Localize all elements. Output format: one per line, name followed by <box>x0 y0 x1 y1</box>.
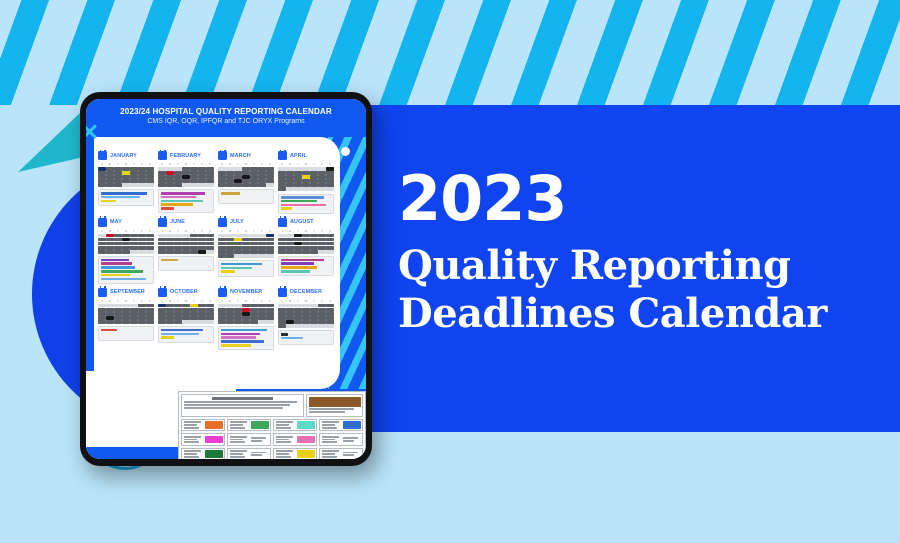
deadline-bar[interactable] <box>281 196 325 199</box>
day-cell[interactable] <box>146 312 154 316</box>
day-cell[interactable] <box>130 175 138 179</box>
day-cell[interactable] <box>158 171 166 175</box>
deadline-bar[interactable] <box>161 336 174 339</box>
day-cell[interactable] <box>302 242 310 246</box>
day-cell[interactable] <box>218 316 226 320</box>
day-cell[interactable] <box>318 234 326 238</box>
day-cell[interactable] <box>174 308 182 312</box>
day-cell[interactable] <box>250 312 258 316</box>
day-cell[interactable] <box>206 179 214 183</box>
day-cell[interactable] <box>318 320 326 324</box>
deadline-bar[interactable] <box>221 344 252 347</box>
deadline-bar[interactable] <box>221 270 235 273</box>
day-cell[interactable] <box>258 167 266 171</box>
deadline-bar[interactable] <box>101 259 130 262</box>
day-cell[interactable] <box>198 242 206 246</box>
day-cell[interactable] <box>146 246 154 250</box>
day-cell[interactable] <box>258 316 266 320</box>
day-cell[interactable] <box>310 242 318 246</box>
day-cell[interactable] <box>166 312 174 316</box>
day-cell[interactable] <box>114 234 122 238</box>
day-cell[interactable] <box>250 246 258 250</box>
day-cell[interactable] <box>122 171 130 175</box>
day-cell[interactable] <box>294 308 302 312</box>
day-cell[interactable] <box>326 238 334 242</box>
deadline-bar[interactable] <box>221 192 240 195</box>
deadline-bar[interactable] <box>161 192 206 195</box>
day-cell[interactable] <box>310 175 318 179</box>
day-cell[interactable] <box>206 167 214 171</box>
deadline-bar[interactable] <box>281 207 292 210</box>
day-cell[interactable] <box>250 304 258 308</box>
day-cell[interactable] <box>218 238 226 242</box>
day-cell[interactable] <box>146 175 154 179</box>
day-cell[interactable] <box>122 308 130 312</box>
day-cell[interactable] <box>234 238 242 242</box>
day-cell[interactable] <box>234 320 242 324</box>
day-cell[interactable] <box>218 183 226 187</box>
day-cell[interactable] <box>166 183 174 187</box>
legend-entry[interactable] <box>273 448 317 459</box>
day-cell[interactable] <box>98 316 106 320</box>
day-cell[interactable] <box>98 171 106 175</box>
day-cell[interactable] <box>106 320 114 324</box>
day-cell[interactable] <box>98 320 106 324</box>
day-cell[interactable] <box>106 183 114 187</box>
legend-entry[interactable] <box>319 433 363 445</box>
legend-entry[interactable] <box>273 433 317 445</box>
deadline-bar[interactable] <box>101 274 131 277</box>
day-cell[interactable] <box>234 316 242 320</box>
day-cell[interactable] <box>182 308 190 312</box>
day-cell[interactable] <box>138 179 146 183</box>
day-cell[interactable] <box>286 312 294 316</box>
day-cell[interactable] <box>138 304 146 308</box>
day-cell[interactable] <box>158 238 166 242</box>
day-cell[interactable] <box>182 250 190 254</box>
day-cell[interactable] <box>326 234 334 238</box>
day-cell[interactable] <box>302 175 310 179</box>
day-cell[interactable] <box>182 312 190 316</box>
day-cell[interactable] <box>302 316 310 320</box>
day-cell[interactable] <box>242 179 250 183</box>
deadline-bar[interactable] <box>101 262 133 265</box>
day-cell[interactable] <box>190 304 198 308</box>
day-cell[interactable] <box>138 234 146 238</box>
day-cell[interactable] <box>190 316 198 320</box>
day-cell[interactable] <box>130 308 138 312</box>
day-cell[interactable] <box>190 175 198 179</box>
day-cell[interactable] <box>98 238 106 242</box>
deadline-bar[interactable] <box>101 192 148 195</box>
day-cell[interactable] <box>234 179 242 183</box>
day-cell[interactable] <box>278 242 286 246</box>
day-cell[interactable] <box>182 316 190 320</box>
deadline-bar[interactable] <box>161 329 204 332</box>
day-cell[interactable] <box>146 242 154 246</box>
day-cell[interactable] <box>98 250 106 254</box>
day-cell[interactable] <box>294 175 302 179</box>
day-cell[interactable] <box>190 171 198 175</box>
day-cell[interactable] <box>138 238 146 242</box>
day-cell[interactable] <box>174 320 182 324</box>
day-cell[interactable] <box>310 246 318 250</box>
deadline-bar[interactable] <box>281 259 325 262</box>
day-cell[interactable] <box>130 171 138 175</box>
day-cell[interactable] <box>198 312 206 316</box>
day-cell[interactable] <box>286 242 294 246</box>
day-cell[interactable] <box>242 183 250 187</box>
day-cell[interactable] <box>158 250 166 254</box>
day-cell[interactable] <box>326 167 334 171</box>
day-cell[interactable] <box>174 183 182 187</box>
day-cell[interactable] <box>278 324 286 328</box>
day-cell[interactable] <box>166 179 174 183</box>
day-cell[interactable] <box>146 320 154 324</box>
day-cell[interactable] <box>106 246 114 250</box>
day-cell[interactable] <box>266 175 274 179</box>
day-cell[interactable] <box>198 308 206 312</box>
day-cell[interactable] <box>138 246 146 250</box>
day-cell[interactable] <box>158 175 166 179</box>
deadline-bar[interactable] <box>281 262 315 265</box>
day-cell[interactable] <box>174 246 182 250</box>
day-cell[interactable] <box>250 175 258 179</box>
day-cell[interactable] <box>286 171 294 175</box>
day-cell[interactable] <box>138 308 146 312</box>
day-cell[interactable] <box>278 187 286 191</box>
day-cell[interactable] <box>242 308 250 312</box>
day-cell[interactable] <box>130 246 138 250</box>
day-cell[interactable] <box>278 175 286 179</box>
day-cell[interactable] <box>258 238 266 242</box>
day-cell[interactable] <box>258 304 266 308</box>
day-cell[interactable] <box>98 246 106 250</box>
legend-entry[interactable] <box>227 448 271 459</box>
day-cell[interactable] <box>318 246 326 250</box>
day-cell[interactable] <box>242 250 250 254</box>
day-cell[interactable] <box>302 171 310 175</box>
day-cell[interactable] <box>226 320 234 324</box>
day-cell[interactable] <box>190 179 198 183</box>
day-cell[interactable] <box>166 242 174 246</box>
day-cell[interactable] <box>98 179 106 183</box>
day-cell[interactable] <box>182 175 190 179</box>
day-cell[interactable] <box>130 238 138 242</box>
day-cell[interactable] <box>326 320 334 324</box>
day-cell[interactable] <box>226 238 234 242</box>
day-cell[interactable] <box>326 171 334 175</box>
day-cell[interactable] <box>190 238 198 242</box>
day-cell[interactable] <box>138 175 146 179</box>
day-cell[interactable] <box>106 234 114 238</box>
day-cell[interactable] <box>266 171 274 175</box>
day-cell[interactable] <box>286 238 294 242</box>
day-cell[interactable] <box>286 183 294 187</box>
day-cell[interactable] <box>250 167 258 171</box>
day-cell[interactable] <box>146 179 154 183</box>
day-cell[interactable] <box>98 312 106 316</box>
day-cell[interactable] <box>218 246 226 250</box>
day-cell[interactable] <box>318 316 326 320</box>
legend-entry[interactable] <box>227 419 271 431</box>
day-cell[interactable] <box>106 316 114 320</box>
day-cell[interactable] <box>226 179 234 183</box>
day-cell[interactable] <box>318 242 326 246</box>
day-cell[interactable] <box>130 242 138 246</box>
day-cell[interactable] <box>190 234 198 238</box>
day-cell[interactable] <box>226 254 234 258</box>
day-cell[interactable] <box>158 246 166 250</box>
day-cell[interactable] <box>278 308 286 312</box>
day-cell[interactable] <box>302 250 310 254</box>
day-cell[interactable] <box>318 171 326 175</box>
day-cell[interactable] <box>174 304 182 308</box>
day-cell[interactable] <box>138 242 146 246</box>
day-cell[interactable] <box>182 167 190 171</box>
day-cell[interactable] <box>266 308 274 312</box>
day-cell[interactable] <box>226 308 234 312</box>
day-cell[interactable] <box>258 312 266 316</box>
day-cell[interactable] <box>114 246 122 250</box>
day-cell[interactable] <box>226 242 234 246</box>
deadline-bar[interactable] <box>281 333 288 336</box>
day-cell[interactable] <box>158 304 166 308</box>
day-cell[interactable] <box>190 246 198 250</box>
deadline-bar[interactable] <box>281 266 318 269</box>
day-cell[interactable] <box>266 238 274 242</box>
day-cell[interactable] <box>250 238 258 242</box>
day-cell[interactable] <box>206 238 214 242</box>
day-cell[interactable] <box>266 246 274 250</box>
day-cell[interactable] <box>278 238 286 242</box>
day-cell[interactable] <box>318 175 326 179</box>
day-cell[interactable] <box>258 250 266 254</box>
day-cell[interactable] <box>250 320 258 324</box>
day-cell[interactable] <box>326 179 334 183</box>
day-cell[interactable] <box>206 242 214 246</box>
day-cell[interactable] <box>266 316 274 320</box>
day-cell[interactable] <box>242 171 250 175</box>
day-cell[interactable] <box>130 316 138 320</box>
day-cell[interactable] <box>114 308 122 312</box>
day-cell[interactable] <box>258 242 266 246</box>
day-cell[interactable] <box>310 320 318 324</box>
legend-entry[interactable] <box>181 419 225 431</box>
day-cell[interactable] <box>294 246 302 250</box>
day-cell[interactable] <box>302 320 310 324</box>
legend-entry[interactable] <box>227 433 271 445</box>
day-cell[interactable] <box>286 250 294 254</box>
day-cell[interactable] <box>310 250 318 254</box>
day-cell[interactable] <box>190 167 198 171</box>
day-cell[interactable] <box>302 238 310 242</box>
day-cell[interactable] <box>234 171 242 175</box>
day-cell[interactable] <box>326 312 334 316</box>
day-cell[interactable] <box>166 238 174 242</box>
day-cell[interactable] <box>158 316 166 320</box>
day-cell[interactable] <box>206 308 214 312</box>
day-cell[interactable] <box>138 167 146 171</box>
day-cell[interactable] <box>218 171 226 175</box>
day-cell[interactable] <box>174 242 182 246</box>
day-cell[interactable] <box>294 250 302 254</box>
close-icon[interactable]: ✕ <box>86 121 102 143</box>
deadline-bar[interactable] <box>281 270 311 273</box>
day-cell[interactable] <box>122 250 130 254</box>
day-cell[interactable] <box>278 316 286 320</box>
day-cell[interactable] <box>146 171 154 175</box>
day-cell[interactable] <box>106 250 114 254</box>
day-cell[interactable] <box>166 246 174 250</box>
day-cell[interactable] <box>234 250 242 254</box>
legend-entry[interactable] <box>273 419 317 431</box>
day-cell[interactable] <box>294 238 302 242</box>
day-cell[interactable] <box>114 183 122 187</box>
deadline-bar[interactable] <box>161 203 194 206</box>
day-cell[interactable] <box>218 312 226 316</box>
day-cell[interactable] <box>318 312 326 316</box>
day-cell[interactable] <box>182 238 190 242</box>
legend-entry[interactable] <box>319 448 363 459</box>
day-cell[interactable] <box>106 238 114 242</box>
day-cell[interactable] <box>206 312 214 316</box>
day-cell[interactable] <box>122 238 130 242</box>
day-cell[interactable] <box>218 308 226 312</box>
day-cell[interactable] <box>146 167 154 171</box>
day-cell[interactable] <box>106 242 114 246</box>
day-cell[interactable] <box>206 316 214 320</box>
day-cell[interactable] <box>114 171 122 175</box>
day-cell[interactable] <box>106 171 114 175</box>
day-cell[interactable] <box>122 320 130 324</box>
day-cell[interactable] <box>146 304 154 308</box>
day-cell[interactable] <box>190 250 198 254</box>
day-cell[interactable] <box>106 167 114 171</box>
day-cell[interactable] <box>218 175 226 179</box>
day-cell[interactable] <box>266 312 274 316</box>
deadline-bar[interactable] <box>101 270 144 273</box>
day-cell[interactable] <box>226 175 234 179</box>
day-cell[interactable] <box>206 304 214 308</box>
day-cell[interactable] <box>286 175 294 179</box>
day-cell[interactable] <box>114 179 122 183</box>
day-cell[interactable] <box>310 308 318 312</box>
day-cell[interactable] <box>166 171 174 175</box>
day-cell[interactable] <box>234 246 242 250</box>
day-cell[interactable] <box>182 246 190 250</box>
deadline-bar[interactable] <box>221 333 261 336</box>
day-cell[interactable] <box>114 312 122 316</box>
day-cell[interactable] <box>310 238 318 242</box>
day-cell[interactable] <box>166 250 174 254</box>
day-cell[interactable] <box>250 183 258 187</box>
day-cell[interactable] <box>122 316 130 320</box>
day-cell[interactable] <box>258 246 266 250</box>
day-cell[interactable] <box>138 320 146 324</box>
day-cell[interactable] <box>114 242 122 246</box>
day-cell[interactable] <box>114 238 122 242</box>
day-cell[interactable] <box>302 308 310 312</box>
day-cell[interactable] <box>258 171 266 175</box>
day-cell[interactable] <box>98 183 106 187</box>
day-cell[interactable] <box>190 308 198 312</box>
day-cell[interactable] <box>182 242 190 246</box>
day-cell[interactable] <box>286 316 294 320</box>
day-cell[interactable] <box>226 183 234 187</box>
day-cell[interactable] <box>182 304 190 308</box>
day-cell[interactable] <box>250 171 258 175</box>
day-cell[interactable] <box>106 175 114 179</box>
day-cell[interactable] <box>278 171 286 175</box>
day-cell[interactable] <box>206 171 214 175</box>
day-cell[interactable] <box>318 308 326 312</box>
day-cell[interactable] <box>190 312 198 316</box>
day-cell[interactable] <box>278 246 286 250</box>
day-cell[interactable] <box>226 171 234 175</box>
day-cell[interactable] <box>158 320 166 324</box>
legend-entry[interactable] <box>181 448 225 459</box>
day-cell[interactable] <box>242 238 250 242</box>
day-cell[interactable] <box>242 167 250 171</box>
day-cell[interactable] <box>294 242 302 246</box>
deadline-bar[interactable] <box>161 259 178 262</box>
day-cell[interactable] <box>114 175 122 179</box>
day-cell[interactable] <box>242 320 250 324</box>
legend-entry[interactable] <box>181 433 225 445</box>
day-cell[interactable] <box>218 254 226 258</box>
day-cell[interactable] <box>138 171 146 175</box>
day-cell[interactable] <box>250 308 258 312</box>
day-cell[interactable] <box>130 320 138 324</box>
day-cell[interactable] <box>258 179 266 183</box>
day-cell[interactable] <box>198 238 206 242</box>
day-cell[interactable] <box>206 234 214 238</box>
day-cell[interactable] <box>302 234 310 238</box>
day-cell[interactable] <box>234 312 242 316</box>
day-cell[interactable] <box>278 312 286 316</box>
day-cell[interactable] <box>326 242 334 246</box>
day-cell[interactable] <box>106 179 114 183</box>
day-cell[interactable] <box>122 242 130 246</box>
day-cell[interactable] <box>130 167 138 171</box>
day-cell[interactable] <box>278 183 286 187</box>
day-cell[interactable] <box>198 246 206 250</box>
day-cell[interactable] <box>326 175 334 179</box>
day-cell[interactable] <box>310 312 318 316</box>
day-cell[interactable] <box>250 242 258 246</box>
day-cell[interactable] <box>302 179 310 183</box>
day-cell[interactable] <box>138 316 146 320</box>
day-cell[interactable] <box>174 171 182 175</box>
deadline-bar[interactable] <box>101 266 136 269</box>
day-cell[interactable] <box>218 242 226 246</box>
day-cell[interactable] <box>310 234 318 238</box>
day-cell[interactable] <box>294 183 302 187</box>
day-cell[interactable] <box>242 304 250 308</box>
day-cell[interactable] <box>266 304 274 308</box>
day-cell[interactable] <box>122 175 130 179</box>
deadline-bar[interactable] <box>221 336 257 339</box>
day-cell[interactable] <box>326 246 334 250</box>
day-cell[interactable] <box>266 167 274 171</box>
day-cell[interactable] <box>174 238 182 242</box>
day-cell[interactable] <box>234 183 242 187</box>
deadline-bar[interactable] <box>221 329 268 332</box>
day-cell[interactable] <box>146 308 154 312</box>
day-cell[interactable] <box>122 246 130 250</box>
legend-entry[interactable] <box>319 419 363 431</box>
